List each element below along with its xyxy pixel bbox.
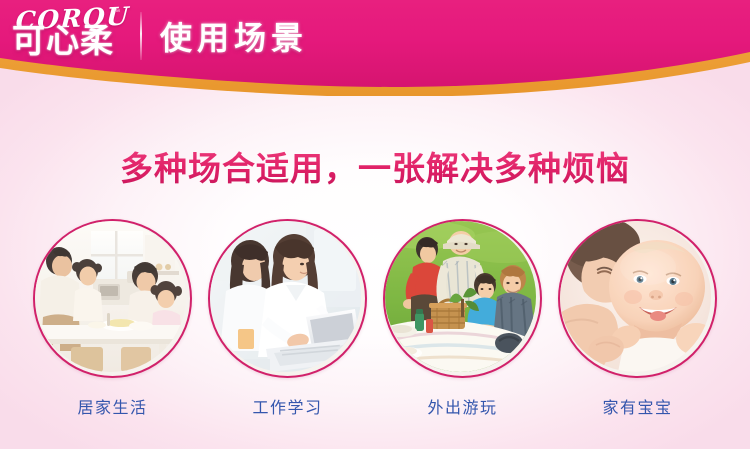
scenario-label: 外出游玩 — [427, 394, 497, 418]
scenario-label: 工作学习 — [252, 394, 322, 418]
banner-header: COROU ™ 可心柔 使用场景 — [0, 0, 750, 96]
scenario-image-outdoor — [383, 219, 542, 378]
header-title: 使用场景 — [160, 13, 308, 59]
scenario-item-work[interactable]: 工作学习 — [210, 219, 365, 418]
scenario-image-home — [33, 219, 192, 378]
scenario-image-work — [208, 219, 367, 378]
family-dining-at-home-photo — [35, 221, 186, 372]
scenario-image-baby — [558, 219, 717, 378]
scenario-item-home[interactable]: 居家生活 — [35, 219, 190, 418]
women-working-on-laptop-photo — [210, 221, 361, 372]
page-headline: 多种场合适用，一张解决多种烦恼 — [0, 142, 750, 190]
scenario-item-outdoor[interactable]: 外出游玩 — [385, 219, 540, 418]
brand-logo: COROU ™ 可心柔 — [10, 3, 132, 69]
scenario-label: 居家生活 — [77, 394, 147, 418]
header-content: COROU ™ 可心柔 使用场景 — [0, 0, 750, 72]
mother-kissing-baby-photo — [560, 221, 711, 372]
trademark-icon: ™ — [113, 9, 120, 16]
brand-logo-chinese: 可心柔 — [12, 24, 114, 57]
scenario-list: 居家生活 — [0, 219, 750, 418]
header-divider — [140, 12, 142, 60]
promo-banner: COROU ™ 可心柔 使用场景 多种场合适用，一张解决多种烦恼 — [0, 0, 750, 449]
family-picnic-on-grass-photo — [385, 221, 536, 372]
scenario-label: 家有宝宝 — [602, 394, 672, 418]
scenario-item-baby[interactable]: 家有宝宝 — [560, 219, 715, 418]
